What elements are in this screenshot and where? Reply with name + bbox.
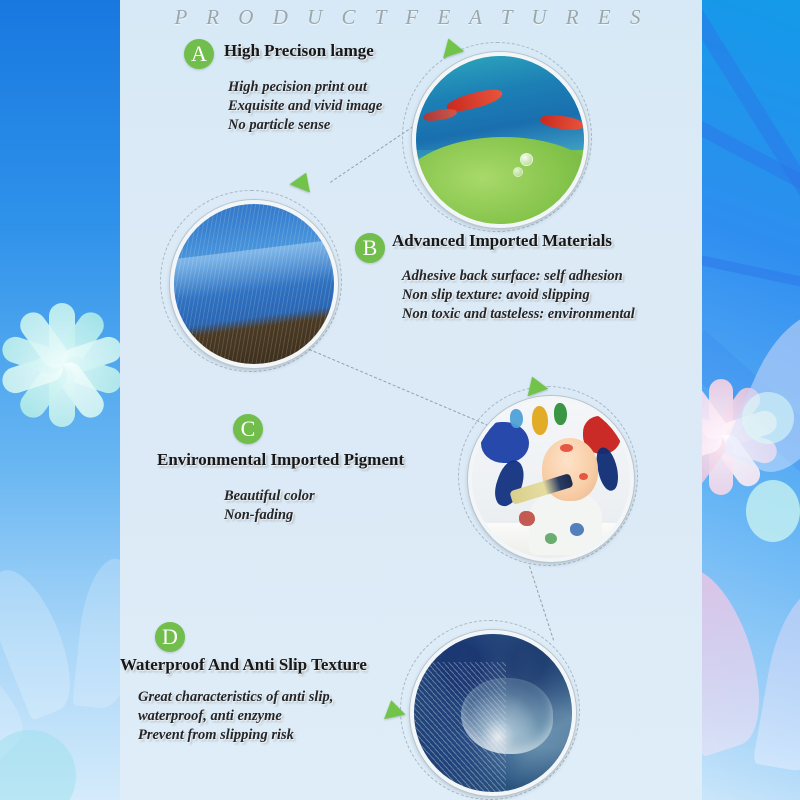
painting-baby-photo <box>468 396 634 562</box>
feature-a-line-2: Exquisite and vivid image <box>228 97 382 116</box>
feature-a-heading: High Precison lamge <box>224 41 374 61</box>
water-droplet-photo <box>410 630 576 796</box>
feature-d-line-3: Prevent from slipping risk <box>138 726 333 745</box>
feature-b-line-2: Non slip texture: avoid slipping <box>402 286 635 305</box>
feature-b-body: Adhesive back surface: self adhesion Non… <box>402 267 635 324</box>
feature-c-body: Beautiful color Non-fading <box>224 487 315 525</box>
feature-c-line-1: Beautiful color <box>224 487 315 506</box>
page-title: P R O D U C T F E A T U R E S <box>120 5 702 30</box>
feature-d-heading: Waterproof And Anti Slip Texture <box>120 655 367 675</box>
badge-b: B <box>355 233 385 263</box>
feature-a-body: High pecision print out Exquisite and vi… <box>228 78 382 135</box>
feature-b-line-1: Adhesive back surface: self adhesion <box>402 267 635 286</box>
feature-b-line-3: Non toxic and tasteless: environmental <box>402 305 635 324</box>
feature-c-line-2: Non-fading <box>224 506 315 525</box>
feature-d-body: Great characteristics of anti slip, wate… <box>138 688 333 745</box>
feature-d-line-1: Great characteristics of anti slip, <box>138 688 333 707</box>
feature-b-heading: Advanced Imported Materials <box>392 231 612 251</box>
feature-a-line-3: No particle sense <box>228 116 382 135</box>
badge-a: A <box>184 39 214 69</box>
right-soft-petal <box>742 392 794 444</box>
feature-a-line-1: High pecision print out <box>228 78 382 97</box>
badge-c: C <box>233 414 263 444</box>
feature-c-heading: Environmental Imported Pigment <box>157 450 404 470</box>
right-soft-petal <box>746 480 800 542</box>
badge-d: D <box>155 622 185 652</box>
product-features-infographic: P R O D U C T F E A T U R E S A High Pre… <box>0 0 800 800</box>
blue-fabric-photo <box>170 200 338 368</box>
koi-pond-photo <box>412 52 588 228</box>
feature-d-line-2: waterproof, anti enzyme <box>138 707 333 726</box>
